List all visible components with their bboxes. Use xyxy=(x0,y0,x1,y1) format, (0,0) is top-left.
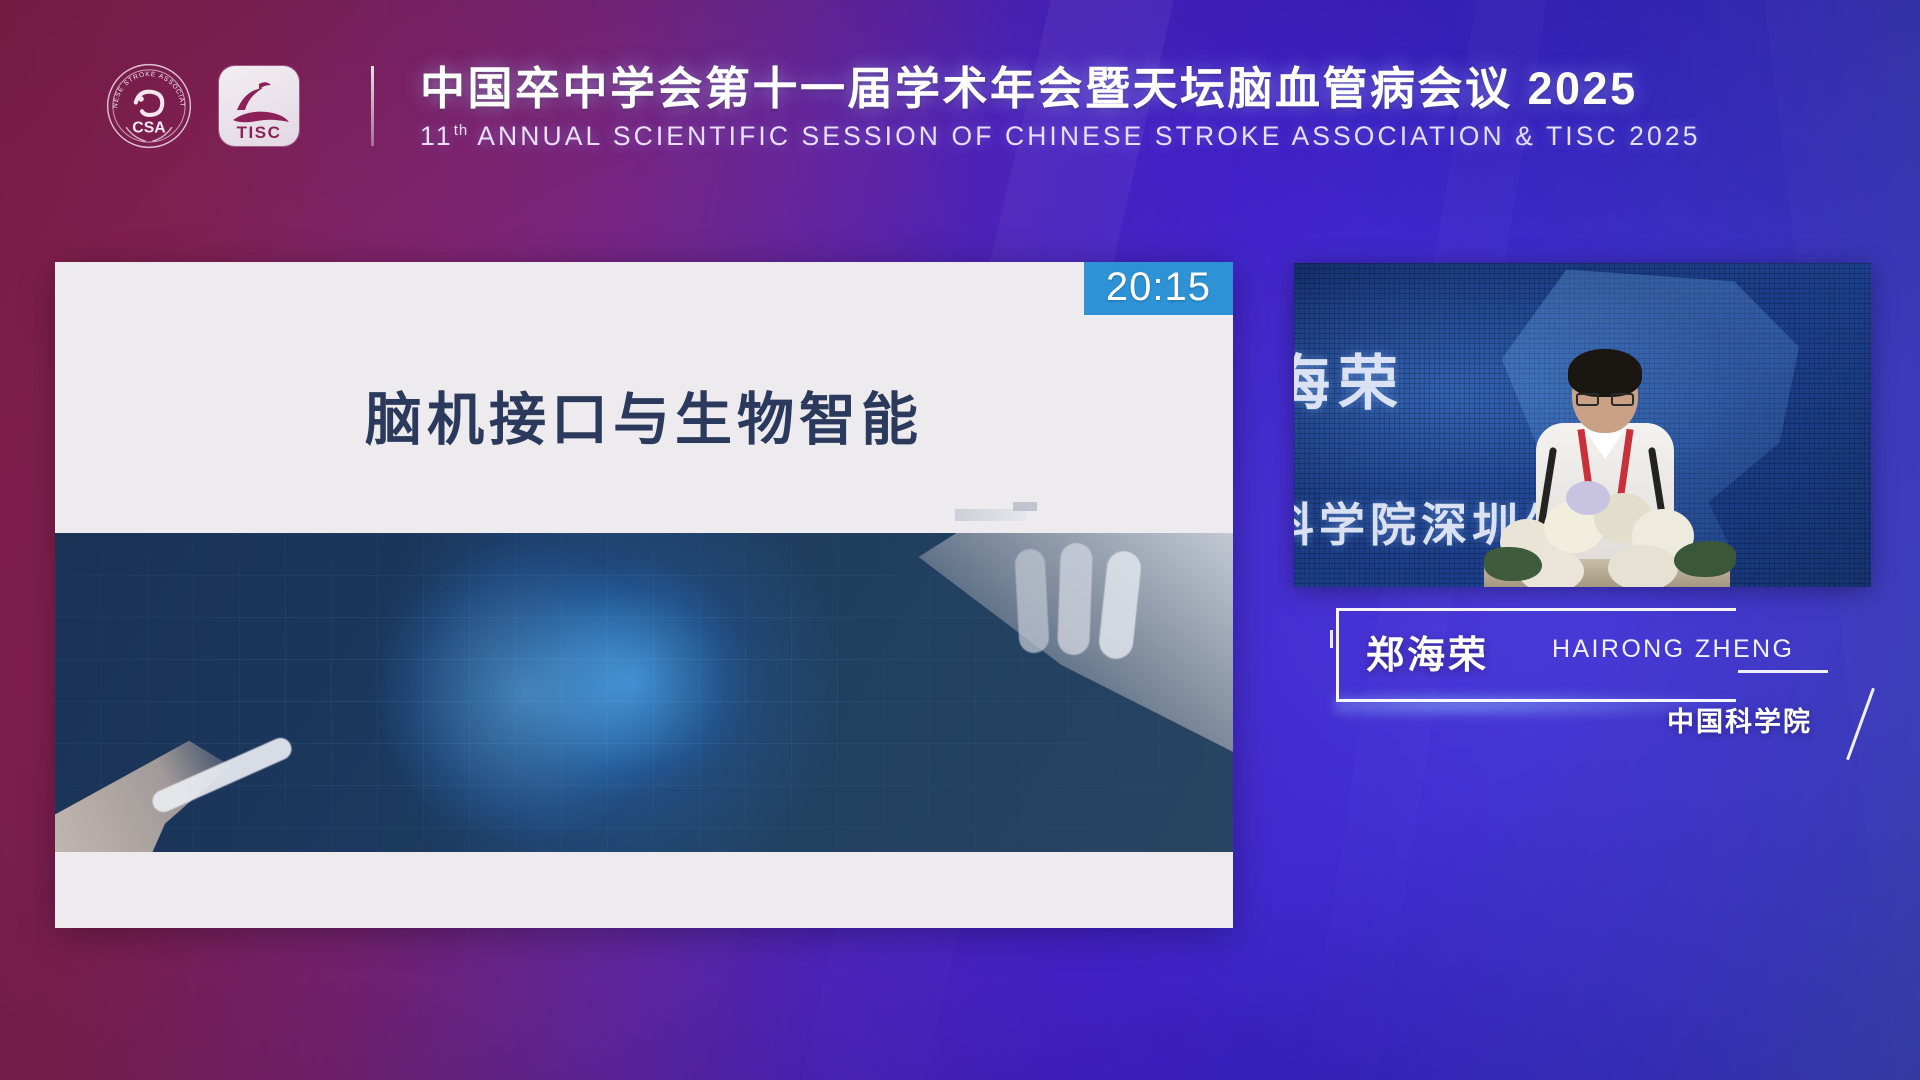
slide-title: 脑机接口与生物智能 xyxy=(55,374,1233,456)
header-title-block: 中国卒中学会第十一届学术年会暨天坛脑血管病会议 2025 11th ANNUAL… xyxy=(420,64,1701,152)
conference-title-ordinal-suffix: th xyxy=(454,123,469,140)
svg-text:TISC: TISC xyxy=(237,123,282,142)
conference-title-cn: 中国卒中学会第十一届学术年会暨天坛脑血管病会议 2025 xyxy=(420,64,1701,114)
presentation-timer: 20:15 xyxy=(1084,262,1233,315)
conference-title-en-text: ANNUAL SCIENTIFIC SESSION OF CHINESE STR… xyxy=(477,121,1700,151)
broadcast-stage: CHINESE STROKE ASSOCIATION CSA TISC xyxy=(0,0,1920,1080)
robot-finger-graphic xyxy=(1057,542,1093,655)
speaker-camera-feed[interactable]: 海荣 科学院深圳先进院 xyxy=(1294,263,1871,587)
slide-title-band: 脑机接口与生物智能 20:15 xyxy=(55,262,1233,533)
csa-logo-icon: CHINESE STROKE ASSOCIATION CSA xyxy=(105,62,193,150)
lower-third-name-en: HAIRONG ZHENG xyxy=(1552,635,1794,664)
speaker-glasses-icon xyxy=(1576,393,1634,406)
conference-title-en: 11th ANNUAL SCIENTIFIC SESSION OF CHINES… xyxy=(420,121,1701,152)
slide-hero-image: 郑海荣 南京大学/中国科学院深圳先进院 xyxy=(55,533,1233,852)
flower-arrangement xyxy=(1482,475,1732,587)
tisc-logo-icon: TISC xyxy=(219,66,299,146)
conference-title-ordinal: 11 xyxy=(420,121,454,151)
logo-group: CHINESE STROKE ASSOCIATION CSA TISC xyxy=(105,62,299,150)
speaker-lower-third: 郑海荣 HAIRONG ZHENG 中国科学院 xyxy=(1294,608,1874,738)
led-wall-text-line1: 海荣 xyxy=(1294,335,1406,422)
slide-decoration xyxy=(1013,502,1037,511)
header-divider xyxy=(371,66,374,146)
lower-third-accent-line xyxy=(1738,670,1828,673)
slide-footer-band xyxy=(55,852,1233,928)
robot-finger-graphic xyxy=(1014,548,1049,653)
hero-brain-glow xyxy=(376,543,676,843)
lower-third-name-cn: 郑海荣 xyxy=(1366,624,1489,679)
conference-header: CHINESE STROKE ASSOCIATION CSA TISC xyxy=(0,0,1920,205)
svg-text:CSA: CSA xyxy=(132,119,166,136)
lower-third-organization: 中国科学院 xyxy=(1667,700,1812,739)
svg-text:CHINESE STROKE ASSOCIATION: CHINESE STROKE ASSOCIATION xyxy=(105,62,186,108)
speaker-hair xyxy=(1568,349,1642,397)
presentation-slide[interactable]: 脑机接口与生物智能 20:15 郑海荣 南京大学/中国科学院深圳先进院 xyxy=(55,262,1233,928)
lower-third-tick xyxy=(1330,630,1333,648)
